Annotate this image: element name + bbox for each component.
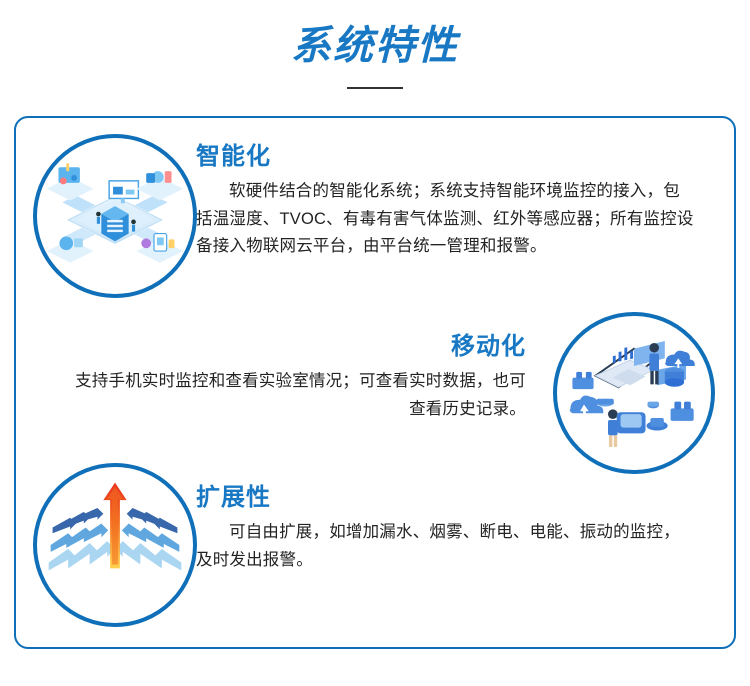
section-heading-scalable: 扩展性: [196, 483, 696, 513]
section-body-scalable: 可自由扩展，如增加漏水、烟雾、断电、电能、振动的监控，及时发出报警。: [196, 519, 696, 574]
feature-image-mobile: [553, 312, 715, 474]
feature-section-intelligent: 智能化 软硬件结合的智能化系统；系统支持智能环境监控的接入，包括温湿度、TVOC…: [196, 142, 696, 261]
isometric-laptop-analytics-icon: [557, 316, 711, 470]
title-divider: [347, 87, 403, 89]
feature-section-mobile: 移动化 支持手机实时监控和查看实验室情况；可查看实时数据，也可查看历史记录。: [60, 332, 526, 423]
converging-arrows-icon: [37, 467, 193, 623]
isometric-iot-platform-icon: [37, 138, 193, 294]
feature-page: 系统特性: [0, 0, 750, 686]
page-header: 系统特性: [0, 22, 750, 89]
section-body-mobile: 支持手机实时监控和查看实验室情况；可查看实时数据，也可查看历史记录。: [60, 368, 526, 423]
section-body-intelligent: 软硬件结合的智能化系统；系统支持智能环境监控的接入，包括温湿度、TVOC、有毒有…: [196, 178, 696, 261]
section-heading-intelligent: 智能化: [196, 142, 696, 172]
feature-section-scalable: 扩展性 可自由扩展，如增加漏水、烟雾、断电、电能、振动的监控，及时发出报警。: [196, 483, 696, 574]
feature-image-scalable: [33, 463, 197, 627]
feature-image-intelligent: [33, 134, 197, 298]
page-title: 系统特性: [0, 22, 750, 70]
section-heading-mobile: 移动化: [60, 332, 526, 362]
